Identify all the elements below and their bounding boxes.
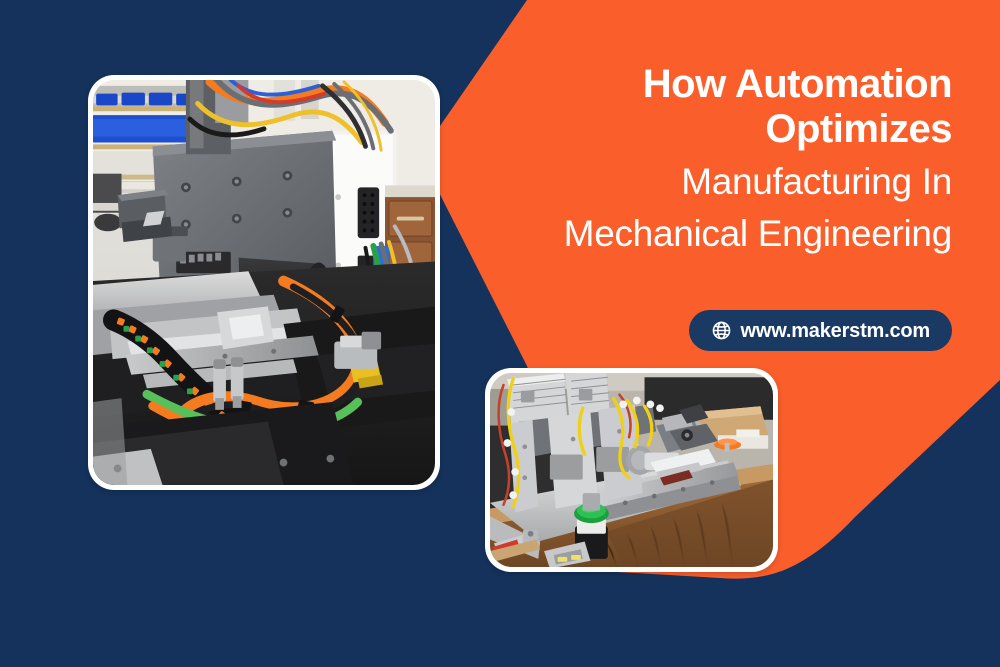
poster-canvas: How Automation Optimizes Manufacturing I… <box>0 0 1000 667</box>
website-url-label: www.makerstm.com <box>741 321 930 341</box>
headline-line-2: Optimizes <box>470 107 952 152</box>
photo-fixture-frame <box>490 373 773 567</box>
photo-machine-frame <box>93 80 435 485</box>
title-block: How Automation Optimizes Manufacturing I… <box>470 62 952 256</box>
website-url-badge[interactable]: www.makerstm.com <box>689 310 952 351</box>
subhead-line-1: Manufacturing In <box>470 160 952 204</box>
photo-machine-image <box>93 80 435 485</box>
photo-fixture-image <box>490 373 773 567</box>
subhead-line-2: Mechanical Engineering <box>470 212 952 256</box>
photo-machine-card <box>88 75 440 490</box>
photo-fixture-card <box>485 368 778 572</box>
headline-line-1: How Automation <box>470 62 952 107</box>
globe-icon <box>711 320 732 341</box>
